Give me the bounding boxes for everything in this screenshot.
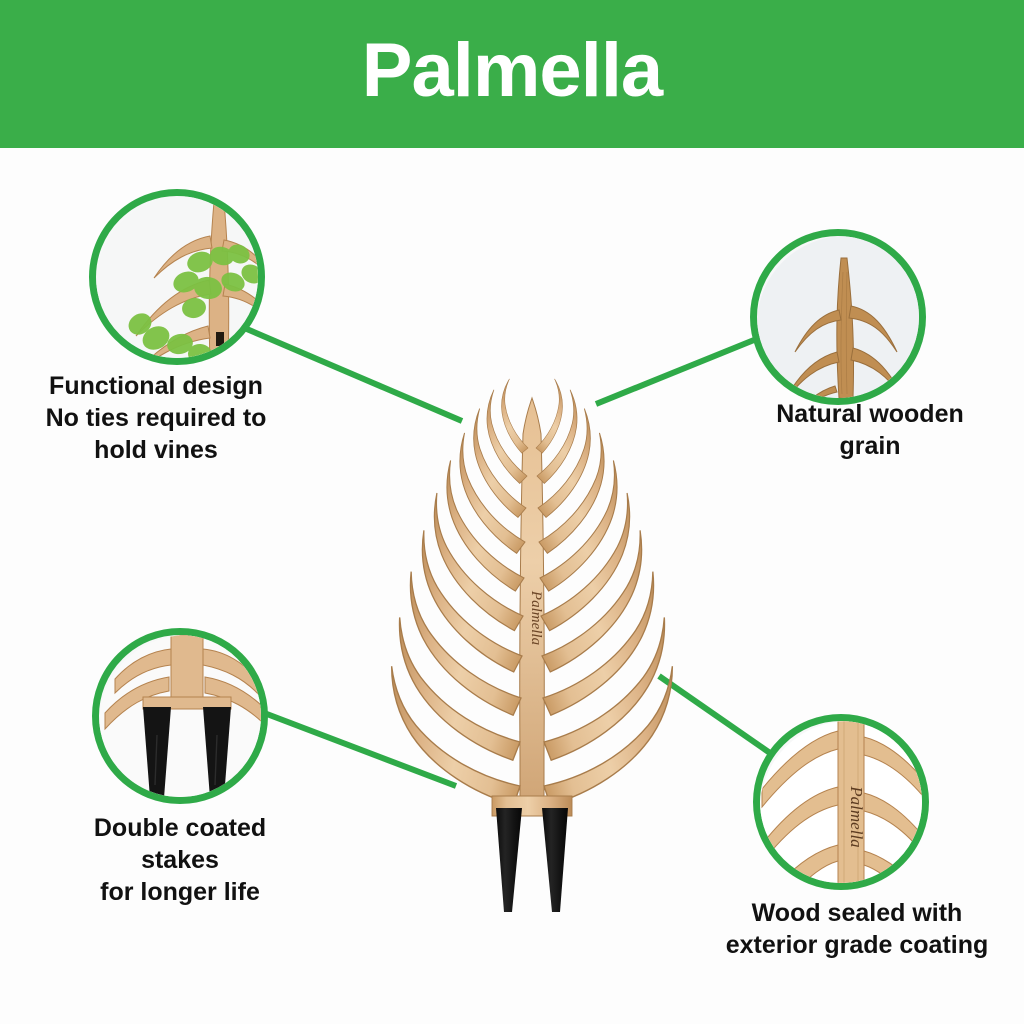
- callout-image-wood-sealed-coating: Palmella: [760, 721, 929, 890]
- callout-circle-wood-sealed-coating: Palmella: [753, 714, 929, 890]
- product-image-trellis: Palmella: [382, 356, 682, 926]
- callout-image-functional-design: [96, 196, 265, 365]
- callout-image-double-coated-stakes: [99, 635, 268, 804]
- callout-circle-functional-design: [89, 189, 265, 365]
- callout-label-functional-design: Functional design No ties required to ho…: [6, 370, 306, 466]
- header-band: Palmella: [0, 0, 1024, 148]
- callout-engraving-text: Palmella: [847, 785, 866, 847]
- callout-image-natural-wooden-grain: [757, 236, 926, 405]
- page-title: Palmella: [362, 33, 662, 115]
- infographic-page: Palmella: [0, 0, 1024, 1024]
- callout-label-double-coated-stakes: Double coated stakes for longer life: [30, 812, 330, 908]
- callout-circle-double-coated-stakes: [92, 628, 268, 804]
- product-stakes: [496, 808, 568, 912]
- callout-circle-natural-wooden-grain: [750, 229, 926, 405]
- product-engraving: Palmella: [528, 590, 544, 645]
- callout-label-natural-wooden-grain: Natural wooden grain: [720, 398, 1020, 462]
- callout-label-wood-sealed-coating: Wood sealed with exterior grade coating: [697, 897, 1017, 961]
